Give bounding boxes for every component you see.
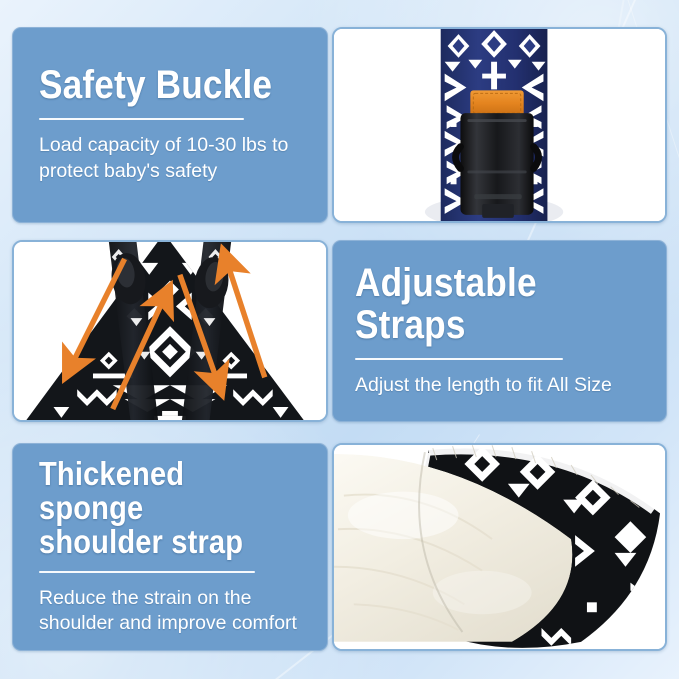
- title-divider-1: [39, 118, 244, 120]
- title-divider-3: [39, 571, 255, 573]
- feature-text-panel-1: Safety Buckle Load capacity of 10-30 lbs…: [12, 27, 328, 223]
- infographic-canvas: Safety Buckle Load capacity of 10-30 lbs…: [0, 0, 679, 679]
- feature-text-panel-2: Adjustable Straps Adjust the length to f…: [332, 240, 667, 422]
- orange-tab: [470, 90, 523, 116]
- adjustable-straps-photo: [12, 240, 328, 422]
- feature-description-2: Adjust the length to fit All Size: [355, 373, 612, 399]
- side-release-buckle: [456, 113, 539, 218]
- feature-description-3: Reduce the strain on the shoulder and im…: [39, 586, 307, 638]
- feature-title-2: Adjustable Straps: [355, 263, 608, 346]
- feature-text-panel-3: Thickened sponge shoulder strap Reduce t…: [12, 443, 328, 651]
- buckle-photo: [332, 27, 667, 223]
- sponge-padding-photo: [332, 443, 667, 651]
- feature-title-1: Safety Buckle: [39, 65, 275, 107]
- title-divider-2: [355, 358, 563, 360]
- feature-description-1: Load capacity of 10-30 lbs to protect ba…: [39, 133, 307, 185]
- feature-title-3: Thickened sponge shoulder strap: [39, 457, 275, 560]
